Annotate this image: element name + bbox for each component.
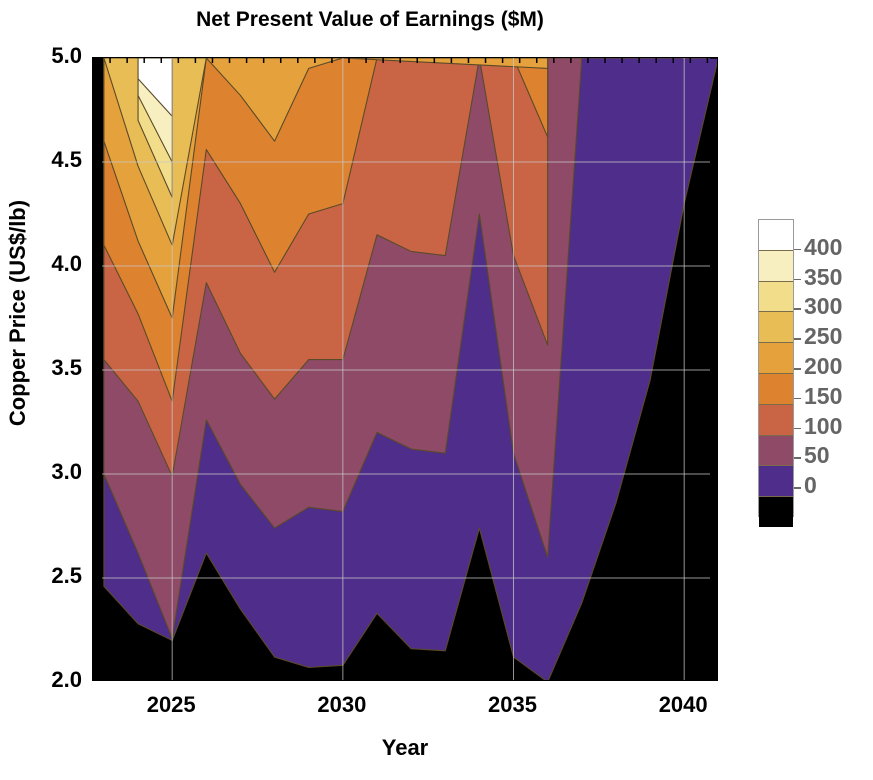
x-tick-label: 2035 (458, 692, 568, 718)
legend-swatch (759, 496, 793, 527)
legend-tick-mark (794, 398, 801, 400)
legend-label: 350 (804, 266, 842, 289)
legend-label: 200 (804, 355, 842, 378)
legend-swatch (759, 250, 793, 281)
legend-swatch (759, 220, 793, 250)
contour-surface (93, 58, 718, 681)
legend-swatch (759, 373, 793, 404)
x-axis-label: Year (92, 735, 718, 761)
legend-tick-mark (794, 249, 801, 251)
legend-swatch (759, 342, 793, 373)
color-legend: 400350300250200150100500 (758, 219, 794, 517)
legend-swatch (759, 311, 793, 342)
plot-area (92, 57, 718, 681)
x-tick-label: 2025 (116, 692, 226, 718)
contour-plot-figure: Net Present Value of Earnings ($M) Coppe… (0, 0, 873, 780)
legend-tick-mark (794, 308, 801, 310)
x-tick-label: 2030 (287, 692, 397, 718)
y-tick-label: 2.5 (4, 563, 82, 589)
legend-label: 400 (804, 236, 842, 259)
legend-tick-mark (794, 428, 801, 430)
page-title: Net Present Value of Earnings ($M) (0, 8, 740, 32)
y-tick-label: 4.5 (4, 147, 82, 173)
x-tick-label: 2040 (628, 692, 738, 718)
legend-tick-mark (794, 279, 801, 281)
legend-swatch (759, 404, 793, 435)
legend-label: 0 (804, 474, 817, 497)
legend-tick-mark (794, 487, 801, 489)
y-tick-label: 5.0 (4, 43, 82, 69)
legend-label: 50 (804, 444, 830, 467)
legend-swatch (759, 465, 793, 496)
legend-tick-mark (794, 457, 801, 459)
y-tick-label: 4.0 (4, 251, 82, 277)
legend-color-bar (758, 219, 794, 517)
y-tick-label: 3.0 (4, 459, 82, 485)
legend-tick-mark (794, 338, 801, 340)
legend-swatch (759, 281, 793, 312)
legend-label: 150 (804, 385, 842, 408)
legend-tick-mark (794, 368, 801, 370)
legend-label: 300 (804, 295, 842, 318)
legend-swatch (759, 435, 793, 466)
y-tick-label: 2.0 (4, 667, 82, 693)
legend-label: 250 (804, 325, 842, 348)
legend-label: 100 (804, 415, 842, 438)
y-tick-label: 3.5 (4, 355, 82, 381)
